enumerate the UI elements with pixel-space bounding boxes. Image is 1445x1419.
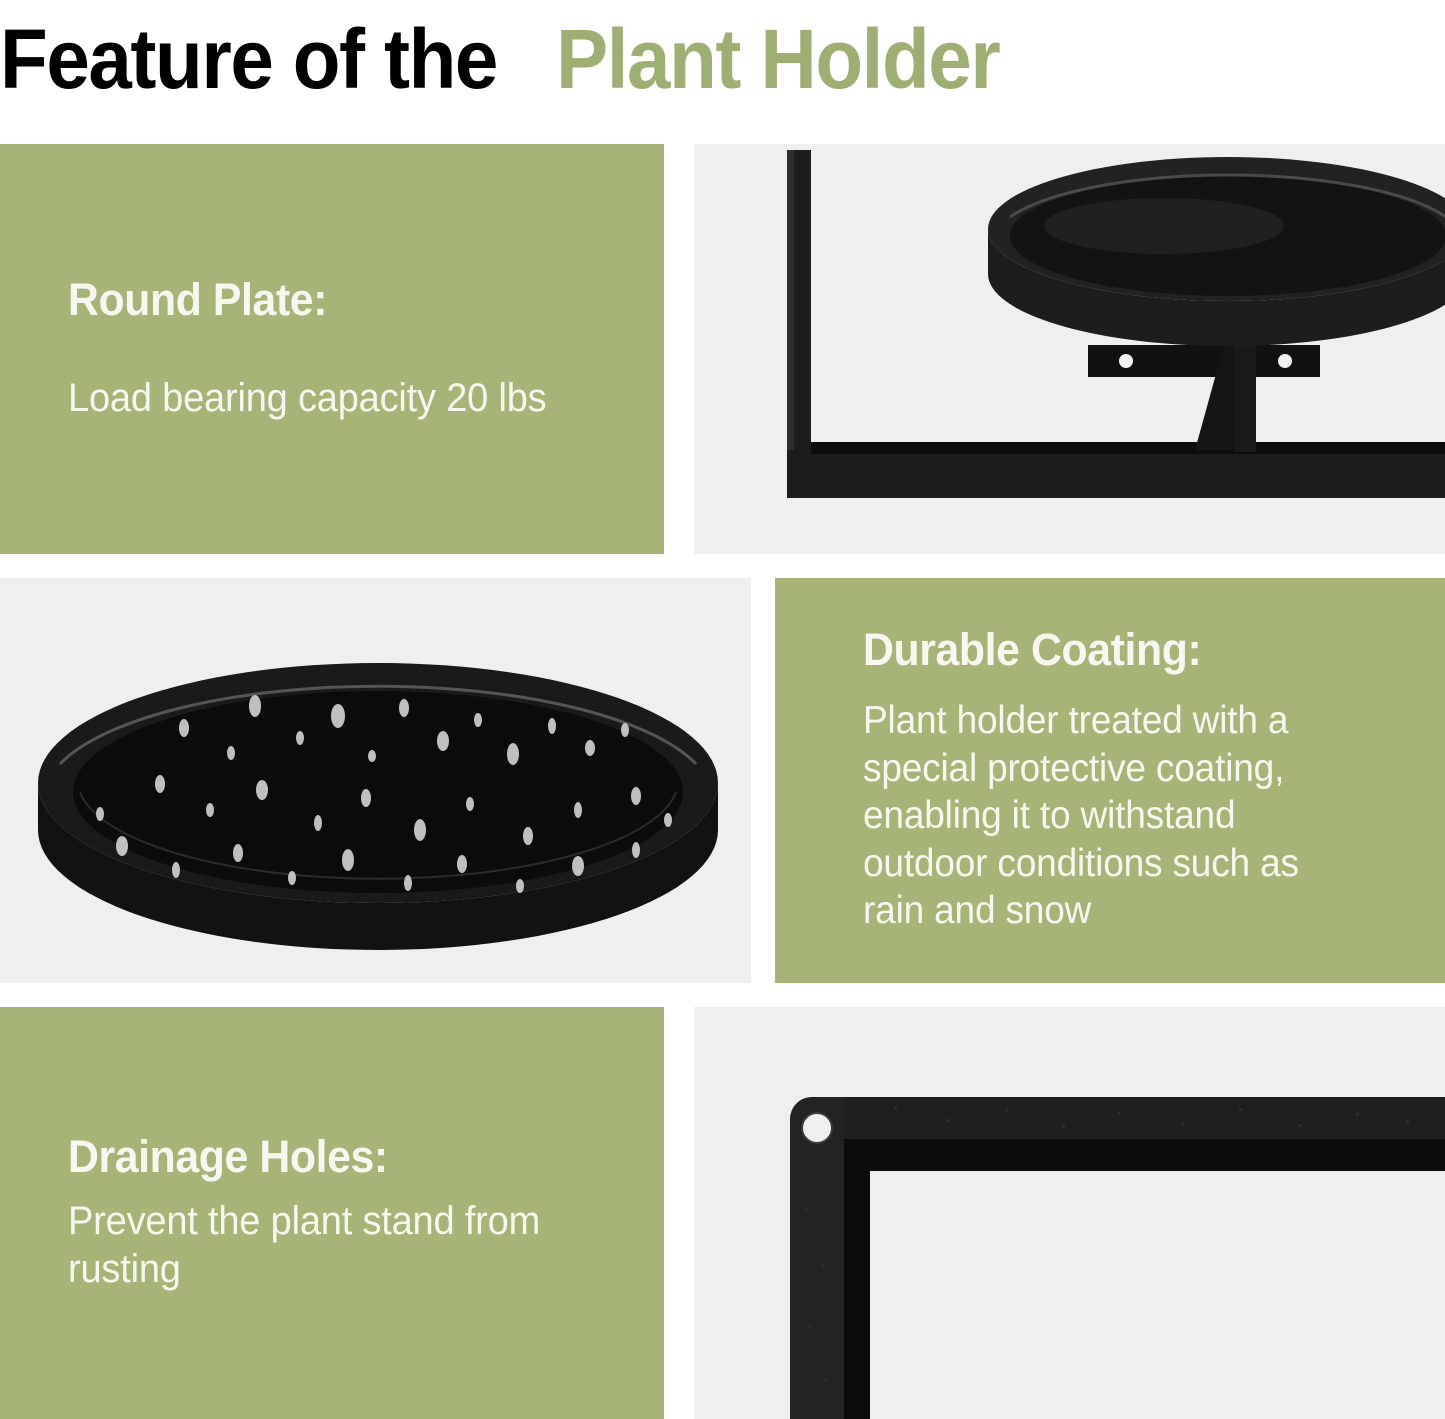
page-title-dark-part: Feature of the [0, 17, 497, 101]
frame-top-rail-bevel [844, 1139, 1445, 1171]
callout-panel-drainage-holes: Drainage Holes: Prevent the plant stand … [0, 1007, 664, 1419]
frame-top-rail [790, 1097, 1445, 1145]
page-title-green-part: Plant Holder [556, 17, 999, 101]
feature-heading-round-plate: Round Plate: [68, 276, 596, 323]
frame-bottom-rail [787, 450, 1445, 498]
feature-row-durable-coating: Durable Coating: Plant holder treated wi… [0, 578, 1445, 983]
callout-panel-durable-coating: Durable Coating: Plant holder treated wi… [775, 578, 1445, 983]
screw-hole-right-icon [1278, 354, 1292, 368]
callout-content-round-plate: Round Plate: Load bearing capacity 20 lb… [0, 276, 664, 422]
photo-round-plate-on-frame [694, 144, 1445, 554]
plate-basin-sheen [1044, 198, 1284, 254]
frame-left-post [790, 1097, 844, 1419]
feature-row-round-plate: Round Plate: Load bearing capacity 20 lb… [0, 144, 1445, 554]
round-plate-photo-svg [694, 144, 1445, 554]
callout-content-durable-coating: Durable Coating: Plant holder treated wi… [775, 626, 1445, 935]
frame-left-post-bevel [844, 1139, 870, 1419]
callout-panel-round-plate: Round Plate: Load bearing capacity 20 lb… [0, 144, 664, 554]
photo-wet-black-tray [0, 578, 751, 983]
spacer [863, 673, 1385, 697]
feature-body-durable-coating: Plant holder treated with a special prot… [863, 697, 1359, 935]
frame-bottom-rail-bevel [811, 442, 1445, 454]
photo-frame-corner-drainage-hole [694, 1007, 1445, 1419]
feature-heading-drainage-holes: Drainage Holes: [68, 1133, 596, 1180]
callout-content-drainage-holes: Drainage Holes: Prevent the plant stand … [0, 1133, 664, 1293]
page-title: Feature of the Plant Holder [0, 0, 1445, 118]
tray-inner-basin [73, 691, 683, 893]
frame-corner-photo-svg [694, 1007, 1445, 1419]
spacer [68, 1180, 624, 1198]
feature-heading-durable-coating: Durable Coating: [863, 626, 1359, 673]
feature-body-drainage-holes: Prevent the plant stand from rusting [68, 1198, 596, 1292]
feature-row-drainage-holes: Drainage Holes: Prevent the plant stand … [0, 1007, 1445, 1419]
frame-vertical-highlight [787, 150, 794, 498]
screw-hole-left-icon [1119, 354, 1133, 368]
spacer [68, 323, 624, 375]
wet-tray-photo-svg [0, 578, 751, 983]
infographic-page: Feature of the Plant Holder Round Plate:… [0, 0, 1445, 1419]
feature-body-round-plate: Load bearing capacity 20 lbs [68, 375, 596, 422]
